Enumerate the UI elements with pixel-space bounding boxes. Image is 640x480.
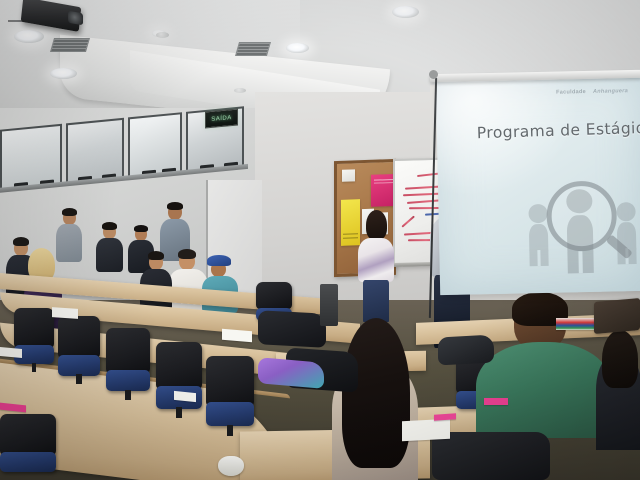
screen-mount	[429, 70, 438, 79]
pink-highlighter[interactable]	[484, 398, 508, 405]
floral-blouse	[358, 238, 394, 282]
notebook-stack[interactable]	[556, 318, 596, 330]
green-polo	[476, 342, 612, 438]
smoke-detector	[234, 88, 246, 93]
person-figure-left	[528, 204, 548, 266]
exit-sign-label: SAÍDA	[211, 115, 232, 123]
black-backpack[interactable]	[258, 310, 326, 348]
black-backpack[interactable]	[438, 335, 494, 366]
exit-sign: SAÍDA	[205, 109, 238, 129]
black-backpack[interactable]	[432, 432, 550, 480]
ceiling-downlight	[392, 6, 419, 18]
logo-secondary-text: Anhanguera	[593, 88, 628, 95]
waste-bin	[320, 284, 338, 326]
white-notice	[342, 169, 355, 181]
notebook-paper[interactable]	[52, 307, 78, 319]
chair[interactable]	[0, 414, 56, 480]
blue-cap-icon	[207, 255, 231, 266]
chair[interactable]	[58, 316, 100, 384]
white-cup[interactable]	[218, 456, 244, 476]
chair[interactable]	[156, 342, 202, 418]
ceiling-downlight	[14, 30, 44, 43]
notebook-paper[interactable]	[402, 419, 450, 442]
student-long-dark-hair-beige-top	[320, 318, 430, 480]
ceiling-downlight	[286, 43, 309, 53]
air-vent	[235, 42, 271, 56]
laptop[interactable]	[594, 298, 640, 334]
student-dark-shirt-seated	[140, 254, 172, 312]
smoke-detector	[156, 32, 169, 38]
student-right-edge	[596, 330, 640, 450]
denim-jeans	[363, 280, 389, 322]
logo-primary-text: Faculdade	[556, 89, 586, 96]
window-pane	[128, 112, 182, 179]
window-pane	[66, 118, 124, 186]
student-dark-tshirt-back	[96, 224, 123, 272]
notebook-paper[interactable]	[0, 347, 22, 358]
presenter-woman	[358, 212, 394, 322]
long-dark-hair	[342, 318, 410, 468]
ceiling-downlight	[50, 68, 77, 79]
chair[interactable]	[206, 356, 254, 436]
air-vent	[50, 38, 90, 52]
window-pane	[0, 124, 62, 192]
projector-lens-icon	[68, 11, 83, 26]
chair[interactable]	[106, 328, 150, 400]
chair[interactable]	[14, 308, 54, 372]
projection-screen: Faculdade Anhanguera Programa de Estágio	[436, 76, 640, 295]
classroom-photo: SAÍDA Faculdade Anh	[0, 0, 640, 480]
slide-logo: Faculdade Anhanguera	[556, 88, 628, 96]
